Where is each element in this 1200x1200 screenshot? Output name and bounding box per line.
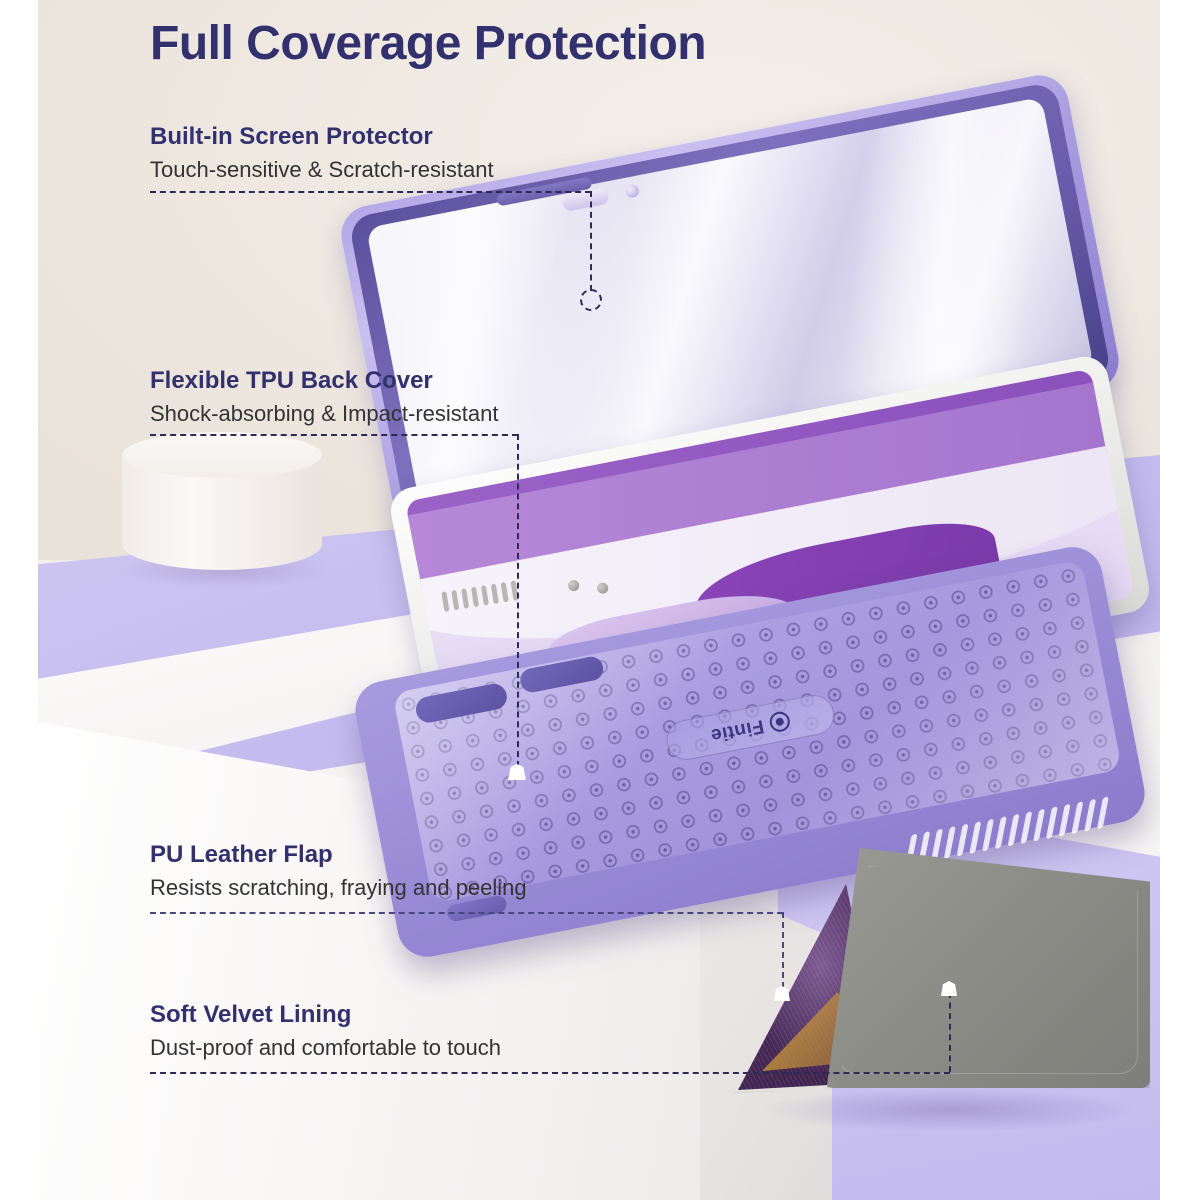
callout-screen-protector: Built-in Screen Protector Touch-sensitiv… xyxy=(150,122,494,185)
callout-title: Built-in Screen Protector xyxy=(150,122,494,152)
leader-line-flap-horizontal xyxy=(150,912,783,914)
callout-tpu-back-cover: Flexible TPU Back Cover Shock-absorbing … xyxy=(150,366,499,429)
callout-subtitle: Touch-sensitive & Scratch-resistant xyxy=(150,155,494,185)
page-title: Full Coverage Protection xyxy=(150,16,706,71)
leader-line-tpu-horizontal xyxy=(150,434,518,436)
flap-shadow xyxy=(760,1088,1140,1132)
leader-line-velvet-horizontal xyxy=(150,1072,950,1074)
callout-title: Flexible TPU Back Cover xyxy=(150,366,499,396)
leader-line-screen-protector-horizontal xyxy=(150,191,591,193)
callout-title: PU Leather Flap xyxy=(150,840,527,870)
circle-target-icon xyxy=(768,710,791,733)
leader-line-velvet-vertical xyxy=(949,992,951,1072)
callout-pu-leather-flap: PU Leather Flap Resists scratching, fray… xyxy=(150,840,527,903)
brand-logo-text: Fintie xyxy=(709,714,766,746)
product-feature-infographic: Fintie Full Coverage Protection Built-in… xyxy=(0,0,1200,1200)
pu-leather-flap-stand xyxy=(720,838,1150,1128)
page-edge-right xyxy=(1160,0,1200,1200)
leader-line-flap-vertical xyxy=(782,912,784,988)
callout-subtitle: Shock-absorbing & Impact-resistant xyxy=(150,399,499,429)
leader-line-screen-protector-vertical xyxy=(590,191,592,291)
callout-title: Soft Velvet Lining xyxy=(150,1000,501,1030)
pu-leather-panel xyxy=(820,848,1150,1088)
callout-subtitle: Dust-proof and comfortable to touch xyxy=(150,1033,501,1063)
callout-soft-velvet-lining: Soft Velvet Lining Dust-proof and comfor… xyxy=(150,1000,501,1063)
leader-line-tpu-vertical xyxy=(517,434,519,767)
callout-subtitle: Resists scratching, fraying and peeling xyxy=(150,873,527,903)
marker-screen-protector xyxy=(580,289,602,311)
cylinder-podium-top xyxy=(122,432,322,478)
page-edge-left xyxy=(0,0,38,1200)
